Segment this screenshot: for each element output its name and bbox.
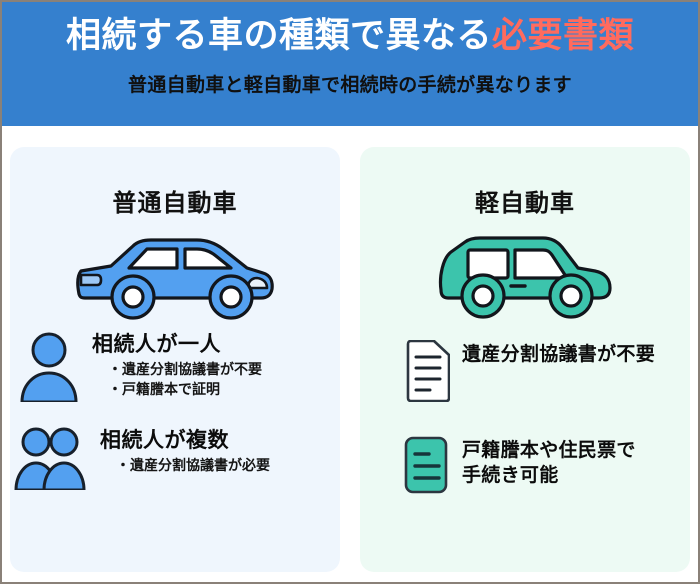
infographic-root: 相続する車の種類で異なる必要書類 普通自動車と軽自動車で相続時の手続が異なります… xyxy=(0,0,700,584)
row-family-register-body: 戸籍謄本や住民票で 手続き可能 xyxy=(462,436,636,487)
bullet-item: ・戸籍謄本で証明 xyxy=(108,380,262,400)
page-title: 相続する車の種類で異なる必要書類 xyxy=(66,16,634,56)
kei-car-icon xyxy=(360,226,690,322)
row-no-agreement-needed: 遺産分割協議書が不要 xyxy=(360,340,690,402)
page-title-main: 相続する車の種類で異なる xyxy=(66,16,492,56)
multiple-people-svg xyxy=(14,426,88,490)
document-outline-svg xyxy=(402,340,450,402)
row-multiple-heirs-body: 相続人が複数 ・遺産分割協議書が必要 xyxy=(100,426,270,476)
single-person-svg xyxy=(18,330,80,402)
page-subtitle: 普通自動車と軽自動車で相続時の手続が異なります xyxy=(128,70,572,97)
row-family-register-text: 戸籍謄本や住民票で 手続き可能 xyxy=(462,438,636,487)
row-no-agreement-text: 遺産分割協議書が不要 xyxy=(462,342,655,367)
row-multiple-heirs-title: 相続人が複数 xyxy=(100,428,270,452)
sedan-car-icon xyxy=(10,226,340,322)
row-family-register-line1: 戸籍謄本や住民票で xyxy=(462,439,636,461)
row-multiple-heirs: 相続人が複数 ・遺産分割協議書が必要 xyxy=(10,426,340,490)
page-title-accent: 必要書類 xyxy=(492,16,634,56)
row-single-heir-title: 相続人が一人 xyxy=(92,332,262,356)
document-filled-svg xyxy=(402,436,450,494)
bullet-item: ・遺産分割協議書が不要 xyxy=(108,360,262,380)
panel-ordinary-vehicle: 普通自動車 xyxy=(10,147,340,572)
row-single-heir-body: 相続人が一人 ・遺産分割協議書が不要 ・戸籍謄本で証明 xyxy=(92,330,262,401)
multiple-people-icon xyxy=(14,426,88,490)
header-banner: 相続する車の種類で異なる必要書類 普通自動車と軽自動車で相続時の手続が異なります xyxy=(2,2,698,126)
row-no-agreement-line1: 遺産分割協議書が不要 xyxy=(462,343,655,365)
kei-car-svg xyxy=(435,228,615,320)
row-single-heir: 相続人が一人 ・遺産分割協議書が不要 ・戸籍謄本で証明 xyxy=(10,330,340,402)
bullet-item: ・遺産分割協議書が必要 xyxy=(116,456,270,476)
document-outline-icon xyxy=(402,340,450,402)
panel-left-heading: 普通自動車 xyxy=(10,183,340,218)
panel-left-rows: 相続人が一人 ・遺産分割協議書が不要 ・戸籍謄本で証明 xyxy=(10,330,340,490)
panels-container: 普通自動車 xyxy=(2,126,698,584)
document-filled-icon xyxy=(402,436,450,494)
row-no-agreement-body: 遺産分割協議書が不要 xyxy=(462,340,655,367)
row-family-register: 戸籍謄本や住民票で 手続き可能 xyxy=(360,436,690,494)
panel-right-heading: 軽自動車 xyxy=(360,183,690,218)
single-person-icon xyxy=(18,330,80,402)
panel-kei-vehicle: 軽自動車 xyxy=(360,147,690,572)
panel-right-rows: 遺産分割協議書が不要 xyxy=(360,340,690,494)
row-multiple-heirs-bullets: ・遺産分割協議書が必要 xyxy=(116,456,270,476)
row-family-register-line2: 手続き可能 xyxy=(462,463,636,488)
row-single-heir-bullets: ・遺産分割協議書が不要 ・戸籍謄本で証明 xyxy=(108,360,262,401)
sedan-car-svg xyxy=(71,228,279,320)
